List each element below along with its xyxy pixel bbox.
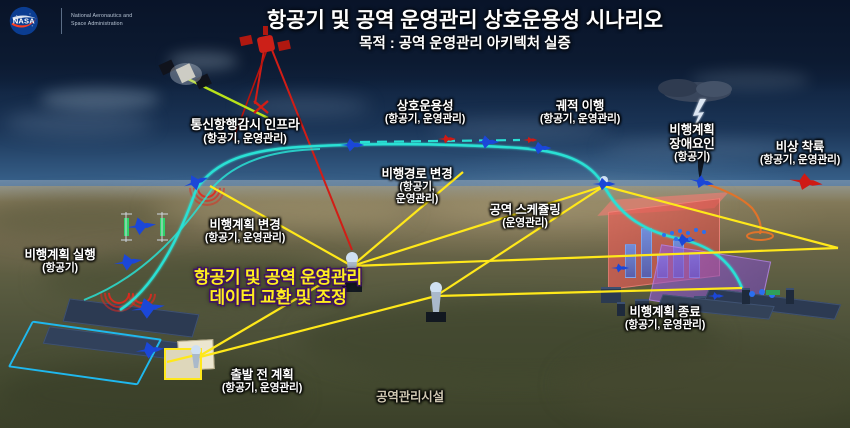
label-sub: (항공기, 운영관리): [205, 232, 285, 244]
label-main: 궤적 이행: [556, 99, 604, 113]
label-sub: (항공기): [24, 262, 95, 274]
label-main: 출발 전 계획: [230, 368, 293, 382]
scenario-diagram: NASA National Aeronautics and Space Admi…: [0, 0, 850, 428]
satellite-link-red: [255, 44, 265, 104]
label-sub-line1: (항공기,: [381, 181, 452, 193]
page-title: 항공기 및 공역 운영관리 상호운용성 시나리오: [0, 4, 850, 34]
network-links-layer: [0, 0, 850, 428]
label-interoperability: 상호운용성 (항공기, 운영관리): [385, 99, 465, 125]
label-airspace-management-facility: 공역관리시설: [376, 390, 444, 404]
label-flight-plan-constraint: 비행계획 장애요인 (항공기): [669, 123, 714, 163]
label-main: 통신항행감시 인프라: [190, 117, 299, 132]
label-sub: (항공기, 운영관리): [385, 113, 465, 125]
label-sub: (항공기, 운영관리): [540, 113, 620, 125]
label-main: 비행경로 변경: [381, 167, 452, 181]
label-main: 상호운용성: [397, 99, 454, 113]
label-sub: (항공기, 운영관리): [190, 133, 299, 146]
label-emergency-landing: 비상 착륙 (항공기, 운영관리): [760, 140, 840, 166]
label-sub: (운영관리): [489, 217, 560, 229]
label-sub-line2: 운영관리): [381, 193, 452, 205]
data-exchange-link-yellow: [167, 172, 838, 362]
label-sub: (항공기, 운영관리): [222, 382, 302, 394]
comm-satellite-icon: [159, 60, 212, 90]
link-cross-marker: [254, 101, 268, 113]
label-airspace-scheduling: 공역 스케쥴링 (운영관리): [489, 203, 560, 229]
callout-line1: 항공기 및 공역 운영관리: [194, 268, 362, 287]
atm-facility-node: [191, 345, 201, 368]
label-main: 비행계획 종료: [629, 305, 700, 319]
label-pre-departure-planning: 출발 전 계획 (항공기, 운영관리): [222, 368, 302, 394]
label-flight-route-change: 비행경로 변경 (항공기, 운영관리): [381, 167, 452, 205]
label-trajectory-conformance: 궤적 이행 (항공기, 운영관리): [540, 99, 620, 125]
label-sub: (항공기, 운영관리): [625, 319, 705, 331]
label-main: 비상 착륙: [776, 140, 824, 154]
page-subtitle: 목적 : 공역 운영관리 아키텍처 실증: [0, 32, 850, 53]
label-flight-plan-execution: 비행계획 실행 (항공기): [24, 248, 95, 274]
label-main-line1: 비행계획: [669, 123, 714, 137]
label-main: 비행계획 변경: [209, 218, 280, 232]
label-sub: (항공기): [669, 151, 714, 163]
label-flight-plan-termination: 비행계획 종료 (항공기, 운영관리): [625, 305, 705, 331]
parked-aircraft-cluster: [749, 289, 780, 298]
atm-facility-node: [426, 282, 446, 322]
label-main-line2: 장애요인: [669, 137, 714, 151]
label-main: 공역 스케쥴링: [489, 203, 560, 217]
label-sub: (항공기, 운영관리): [760, 154, 840, 166]
label-flight-plan-change: 비행계획 변경 (항공기, 운영관리): [205, 218, 285, 244]
callout-line2: 데이터 교환 및 조정: [194, 288, 362, 308]
label-main: 비행계획 실행: [24, 248, 95, 262]
callout-data-exchange: 항공기 및 공역 운영관리 데이터 교환 및 조정: [194, 268, 362, 308]
label-comm-nav-surveillance-infra: 통신항행감시 인프라 (항공기, 운영관리): [190, 118, 299, 145]
